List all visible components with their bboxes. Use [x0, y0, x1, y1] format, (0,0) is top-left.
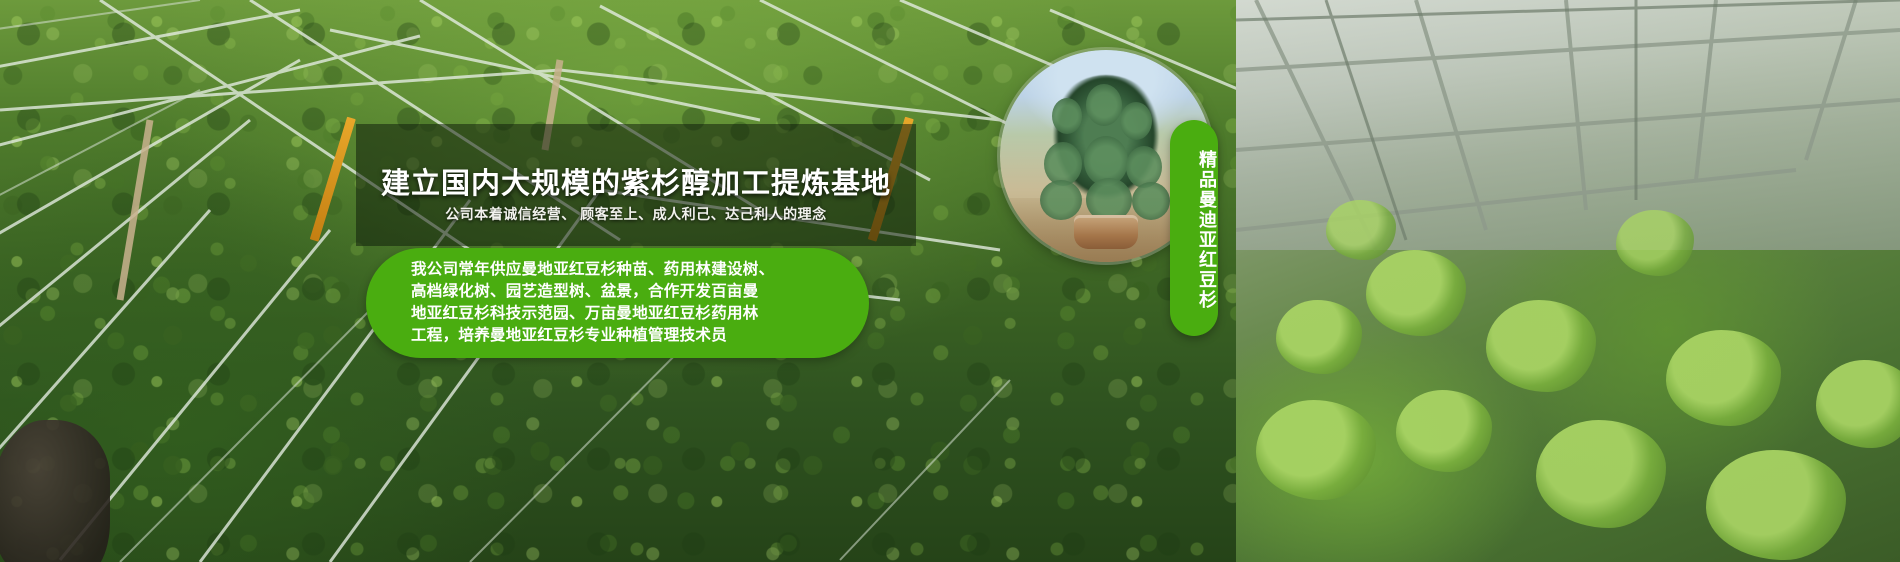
- foreground-rock: [0, 420, 110, 562]
- foliage-cluster: [1132, 182, 1170, 220]
- foliage-cluster: [1120, 102, 1152, 140]
- promo-banner: 建立国内大规模的紫杉醇加工提炼基地 公司本着诚信经营、 顾客至上、成人利己、达己…: [0, 0, 1900, 562]
- description-panel: 我公司常年供应曼地亚红豆杉种苗、药用林建设树、 高档绿化树、园艺造型树、盆景，合…: [366, 248, 869, 358]
- foliage-cluster: [1086, 84, 1122, 126]
- description-line-4: 工程，培养曼地亚红豆杉专业种植管理技术员: [411, 325, 831, 347]
- vine-leaf: [1366, 250, 1466, 336]
- plant-pot: [1074, 215, 1138, 249]
- vine-leaf: [1396, 390, 1492, 472]
- vine-leaf: [1486, 300, 1596, 392]
- vertical-label-text: 精品曼迪亚红豆杉: [1170, 140, 1218, 320]
- description-line-1: 我公司常年供应曼地亚红豆杉种苗、药用林建设树、: [411, 259, 831, 281]
- vine-leaf: [1326, 200, 1396, 260]
- description-text-block: 我公司常年供应曼地亚红豆杉种苗、药用林建设树、 高档绿化树、园艺造型树、盆景，合…: [411, 259, 831, 347]
- vine-leaf: [1666, 330, 1781, 426]
- vine-leaf: [1536, 420, 1666, 528]
- vine-leaf: [1616, 210, 1694, 276]
- vine-leaf: [1276, 300, 1362, 374]
- vine-leaf: [1706, 450, 1846, 560]
- vine-leaf: [1256, 400, 1376, 500]
- description-line-3: 地亚红豆杉科技示范园、万亩曼地亚红豆杉药用林: [411, 303, 831, 325]
- description-line-2: 高档绿化树、园艺造型树、盆景，合作开发百亩曼: [411, 281, 831, 303]
- headline-text: 建立国内大规模的紫杉醇加工提炼基地: [356, 160, 916, 202]
- foliage-cluster: [1052, 98, 1082, 134]
- subheadline-text: 公司本着诚信经营、 顾客至上、成人利己、达己利人的理念: [356, 204, 916, 224]
- greenhouse-scene: [1236, 0, 1900, 562]
- vertical-label-pill: 精品曼迪亚红豆杉: [1170, 120, 1218, 336]
- foliage-cluster: [1126, 146, 1162, 188]
- foliage-cluster: [1040, 180, 1082, 220]
